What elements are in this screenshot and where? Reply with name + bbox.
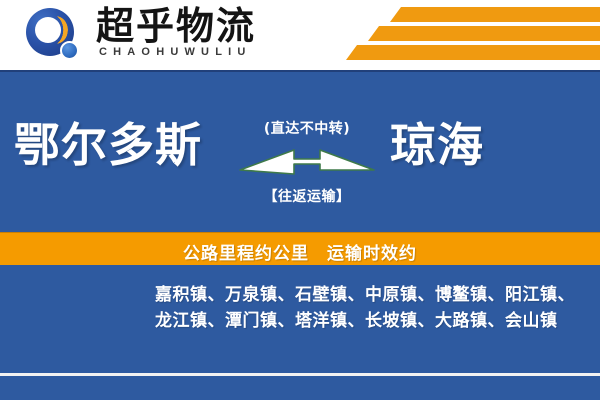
footer-band <box>0 376 600 400</box>
covered-towns-list: 嘉积镇、万泉镇、石壁镇、中原镇、博鳌镇、阳江镇、 龙江镇、潭门镇、塔洋镇、长坡镇… <box>155 282 587 334</box>
logo-accent-dot-shape <box>60 41 79 60</box>
origin-city-label: 鄂尔多斯 <box>14 116 202 174</box>
brand-name-pinyin: CHAOHUWULIU <box>99 46 252 58</box>
round-trip-note: 【往返运输】 <box>238 186 376 206</box>
chaohu-logo-icon <box>26 8 82 64</box>
brand-name-chinese: 超乎物流 <box>96 6 256 46</box>
double-arrow-icon <box>238 144 376 180</box>
header-stripe-1 <box>390 7 600 22</box>
direct-service-note: (直达不中转) <box>238 118 376 138</box>
header-stripe-decoration <box>320 6 600 64</box>
covered-towns-line-2: 龙江镇、潭门镇、塔洋镇、长坡镇、大路镇、会山镇 <box>155 308 587 334</box>
route-info-bar: 公路里程约公里 运输时效约 <box>0 232 600 266</box>
distance-and-duration-text: 公路里程约公里 运输时效约 <box>0 239 600 264</box>
logo-crescent-shape <box>44 16 68 44</box>
header-stripe-2 <box>368 26 600 41</box>
header-stripe-3 <box>346 45 600 60</box>
destination-city-label: 琼海 <box>390 116 484 174</box>
logistics-route-banner: 超乎物流 CHAOHUWULIU 鄂尔多斯 (直达不中转) 【往返运输】 琼海 … <box>0 0 600 400</box>
route-panel: 鄂尔多斯 (直达不中转) 【往返运输】 琼海 <box>0 70 600 234</box>
covered-towns-line-1: 嘉积镇、万泉镇、石壁镇、中原镇、博鳌镇、阳江镇、 <box>155 282 587 308</box>
banner-header: 超乎物流 CHAOHUWULIU <box>0 0 600 70</box>
route-arrow-block: (直达不中转) 【往返运输】 <box>238 112 376 222</box>
coverage-panel: 嘉积镇、万泉镇、石壁镇、中原镇、博鳌镇、阳江镇、 龙江镇、潭门镇、塔洋镇、长坡镇… <box>0 265 600 373</box>
